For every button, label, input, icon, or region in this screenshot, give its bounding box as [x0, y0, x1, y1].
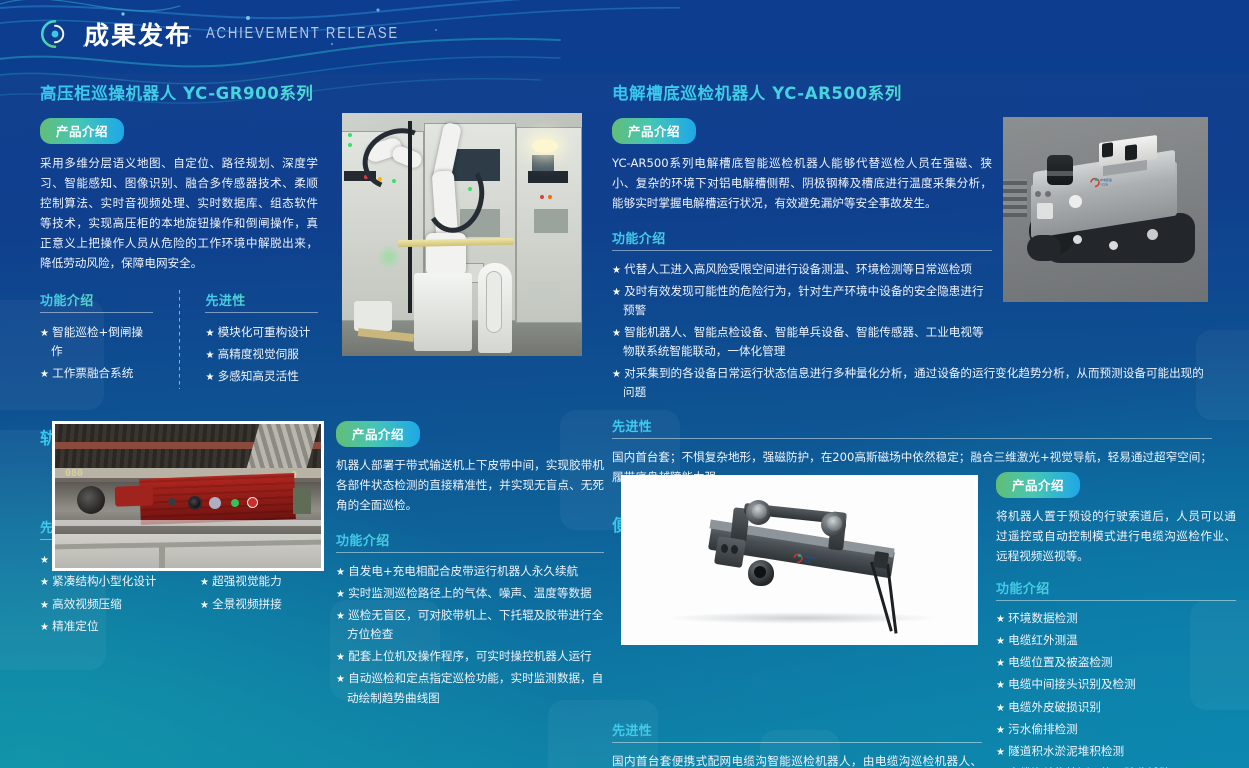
photo-detail [1035, 191, 1041, 197]
photo-detail [348, 143, 352, 147]
page-header: 成果发布 ACHIEVEMENT RELEASE [40, 16, 441, 52]
advancement-text-cr300: 国内首台套便携式配网电缆沟智能巡检机器人，由电缆沟巡检机器人、一体化巡检作业平台… [612, 752, 982, 768]
function-list-ar500: 代替人工进入高风险受限空间进行设备测温、环境检测等日常巡检项 及时有效发现可能性… [612, 260, 992, 361]
photo-detail [1109, 241, 1118, 250]
photo-detail [827, 516, 842, 531]
list-item: 代替人工进入高风险受限空间进行设备测温、环境检测等日常巡检项 [612, 260, 992, 279]
photo-detail [77, 486, 105, 514]
photo-cr300: 中电装备YCZB [621, 475, 978, 645]
svg-text:YCZB: YCZB [1100, 183, 1108, 187]
function-list-gr900: 智能巡检+倒闸操作 工作票融合系统 [40, 323, 153, 383]
divider [612, 438, 1212, 439]
photo-detail [348, 133, 352, 137]
list-item: 巡检无盲区，可对胶带机上、下托辊及胶带进行全方位检查 [336, 606, 604, 644]
divider [40, 312, 153, 313]
company-logo-ar500: 中电装备YCZB [1089, 175, 1119, 187]
heading-functions-tr680: 功能介绍 [336, 530, 604, 549]
photo-detail [1147, 229, 1158, 240]
intro-text-ar500: YC-AR500系列电解槽底智能巡检机器人能够代替巡检人员在强磁、狭小、复杂的环… [612, 154, 992, 214]
heading-functions-ar500: 功能介绍 [612, 228, 992, 247]
divider [336, 552, 604, 553]
list-item: 电缆外皮破损识别 [996, 698, 1236, 717]
list-item: 高效视频压缩 [40, 595, 186, 614]
list-item: 及时有效发现可能性的危险行为，针对生产环境中设备的安全隐患进行预警 [612, 282, 992, 320]
photo-detail [1027, 235, 1061, 261]
target-ring-icon [40, 19, 70, 49]
list-item: 全景视频拼接 [200, 595, 320, 614]
vertical-divider [179, 290, 180, 390]
list-item: 电缆中间接头识别及检测 [996, 675, 1236, 694]
list-item: 配套上位机及操作程序，可实时操控机器人运行 [336, 647, 604, 666]
list-item: 自动巡检和定点指定巡检功能，实时监测数据，自动绘制趋势曲线图 [336, 669, 604, 707]
photo-detail [408, 121, 412, 313]
photo-detail [528, 281, 560, 303]
photo-detail [714, 536, 746, 568]
badge-product-intro-gr900: 产品介绍 [40, 118, 124, 144]
cr300-detail-block: 产品介绍 将机器人置于预设的行驶索道后，人员可以通过遥控或自动控制模式进行电缆沟… [996, 472, 1236, 768]
photo-detail [534, 209, 568, 233]
function-list-ar500-wide: 对采集到的各设备日常运行状态信息进行多种量化分析，通过设备的运行变化趋势分析，从… [612, 364, 1212, 402]
photo-detail [376, 245, 402, 269]
photo-tr680: 080 0 [52, 421, 324, 571]
heading-advancement-ar500: 先进性 [612, 416, 1212, 435]
list-item: 对采集到的各设备日常运行状态信息进行多种量化分析，通过设备的运行变化趋势分析，从… [612, 364, 1212, 402]
list-item: 自发电+充电相配合皮带运行机器人永久续航 [336, 562, 604, 581]
photo-detail [1073, 235, 1082, 244]
list-item: 污水偷排检测 [996, 720, 1236, 739]
photo-detail [754, 566, 766, 578]
intro-text-cr300: 将机器人置于预设的行驶索道后，人员可以通过遥控或自动控制模式进行电缆沟巡检作业、… [996, 507, 1236, 567]
photo-detail [1037, 203, 1053, 219]
photo-detail [540, 195, 544, 199]
intro-text-tr680: 机器人部署于带式输送机上下皮带中间，实现胶带机各部件状态检测的直接精准性，并实现… [336, 456, 604, 516]
list-item: 隧道积水淤泥堆积检测 [996, 742, 1236, 761]
divider [205, 312, 318, 313]
function-list-tr680: 自发电+充电相配合皮带运行机器人永久续航 实时监测巡检路径上的气体、噪声、温度等… [336, 562, 604, 708]
photo-detail [247, 424, 320, 468]
photo-detail [354, 301, 392, 331]
list-item: 电缆位置及被盗检测 [996, 653, 1236, 672]
heading-functions-cr300: 功能介绍 [996, 578, 1236, 597]
heading-advancement-gr900: 先进性 [205, 290, 318, 309]
section-title-ar500: 电解槽底巡检机器人 YC-AR500系列 [612, 80, 1212, 104]
heading-advancement-cr300: 先进性 [612, 720, 982, 739]
photo-detail [873, 551, 889, 569]
photo-detail [209, 497, 221, 509]
list-item: 模块化可重构设计 [205, 323, 318, 342]
divider [612, 742, 982, 743]
list-item: 超强视觉能力 [200, 572, 320, 591]
photo-detail [159, 546, 165, 571]
photo-ar500: 中电装备YCZB [1003, 117, 1208, 302]
svg-text:中电装备: 中电装备 [1100, 177, 1112, 182]
tr680-detail-block: 产品介绍 机器人部署于带式输送机上下皮带中间，实现胶带机各部件状态检测的直接精准… [336, 421, 604, 710]
list-item: 精准定位 [40, 617, 186, 636]
list-item: 智能巡检+倒闸操作 [40, 323, 153, 361]
photo-detail [55, 520, 321, 526]
photo-detail [188, 496, 202, 510]
list-item: 实时监测巡检路径上的气体、噪声、温度等数据 [336, 584, 604, 603]
photo-detail [115, 485, 154, 506]
photo-detail [731, 545, 738, 554]
badge-product-intro-tr680: 产品介绍 [336, 421, 420, 447]
photo-detail [528, 171, 568, 183]
badge-product-intro-ar500: 产品介绍 [612, 118, 696, 144]
list-item: 紧凑结构小型化设计 [40, 572, 186, 591]
photo-detail [247, 497, 258, 508]
page-title: 成果发布 [84, 16, 192, 52]
photo-detail [548, 195, 552, 199]
photo-detail [486, 271, 502, 333]
photo-detail [231, 499, 239, 507]
list-item: 环境数据检测 [996, 609, 1236, 628]
list-item: 电缆红外测温 [996, 631, 1236, 650]
heading-functions-gr900: 功能介绍 [40, 290, 153, 309]
photo-detail [1102, 142, 1113, 158]
advancement-list-gr900: 模块化可重构设计 高精度视觉伺服 多感知高灵活性 [205, 323, 318, 387]
list-item: 工作票融合系统 [40, 364, 153, 383]
photo-detail [752, 504, 767, 519]
intro-text-gr900: 采用多维分层语义地图、自定位、路径规划、深度学习、智能感知、图像识别、融合多传感… [40, 154, 318, 274]
photo-detail [1045, 191, 1051, 197]
divider [996, 600, 1236, 601]
badge-product-intro-cr300: 产品介绍 [996, 472, 1080, 498]
list-item: 智能机器人、智能点检设备、智能单兵设备、智能传感器、工业电视等物联系统智能联动，… [612, 323, 992, 361]
photo-detail [414, 273, 472, 351]
list-item: 多感知高灵活性 [205, 367, 318, 386]
photo-detail [721, 544, 728, 553]
page-subtitle: ACHIEVEMENT RELEASE [206, 25, 399, 43]
photo-detail [1047, 155, 1073, 185]
photo-detail [532, 139, 558, 153]
photo-detail [1069, 195, 1082, 208]
divider [612, 250, 992, 251]
svg-text:YCZB: YCZB [803, 559, 811, 564]
list-item: 高精度视觉伺服 [205, 345, 318, 364]
photo-gr900 [342, 113, 582, 356]
list-item: 电缆沟结构检测及施工验收辅助 [996, 764, 1236, 768]
photo-detail [168, 498, 176, 506]
photo-detail [1125, 144, 1137, 161]
photo-detail [1003, 179, 1027, 217]
photo-detail [293, 488, 311, 514]
section-title-gr900: 高压柜巡操机器人 YC-GR900系列 [40, 80, 596, 104]
photo-detail [1047, 171, 1073, 176]
photo-detail [664, 612, 939, 624]
function-list-cr300: 环境数据检测 电缆红外测温 电缆位置及被盗检测 电缆中间接头识别及检测 电缆外皮… [996, 609, 1236, 768]
